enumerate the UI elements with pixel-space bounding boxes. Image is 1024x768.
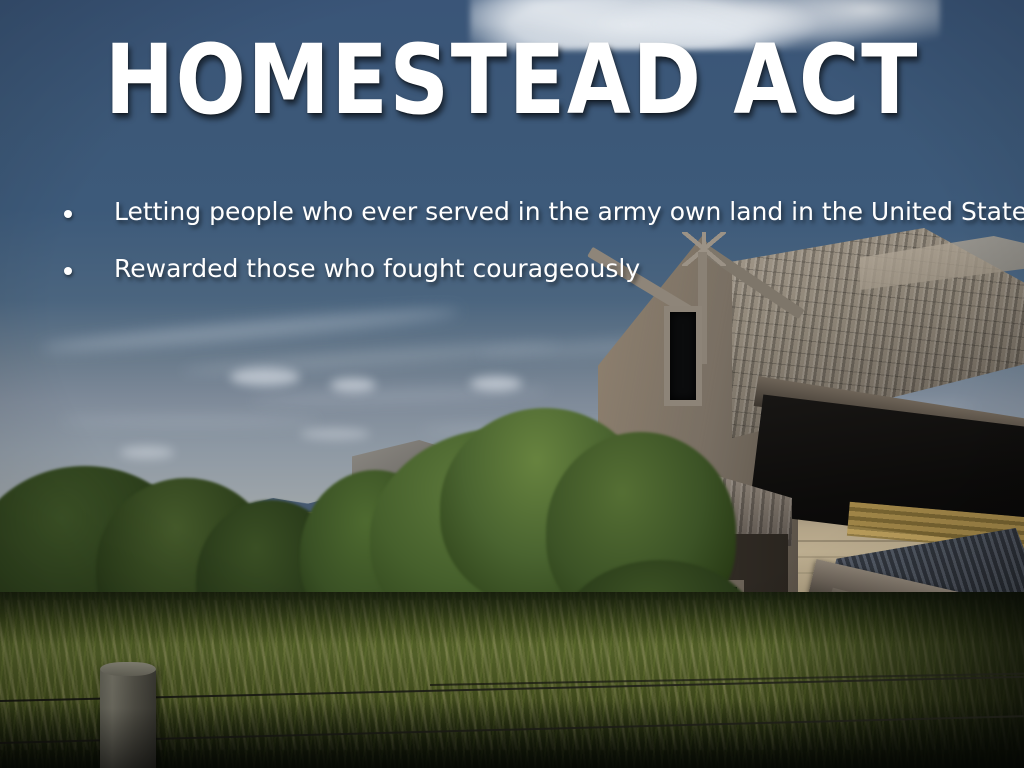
cloud-puff — [300, 428, 370, 440]
list-item-label: Letting people who ever served in the ar… — [114, 196, 1024, 228]
house-upper-window — [664, 306, 702, 406]
fence-post-shading — [100, 668, 156, 768]
list-item: Letting people who ever served in the ar… — [0, 196, 1024, 228]
page-title: HOMESTEAD ACT — [72, 32, 953, 128]
bullet-point-icon — [64, 267, 72, 275]
list-item-label: Rewarded those who fought courageously — [114, 253, 640, 285]
cloud-puff — [230, 368, 300, 386]
bullet-point-icon — [64, 210, 72, 218]
cloud-puff — [470, 376, 522, 391]
bullet-list: Letting people who ever served in the ar… — [0, 196, 1024, 310]
presentation-slide: HOMESTEAD ACT Letting people who ever se… — [0, 0, 1024, 768]
cirrus-streak — [60, 416, 320, 426]
list-item: Rewarded those who fought courageously — [0, 253, 1024, 285]
cloud-puff — [330, 378, 376, 392]
cloud-puff — [120, 446, 174, 459]
